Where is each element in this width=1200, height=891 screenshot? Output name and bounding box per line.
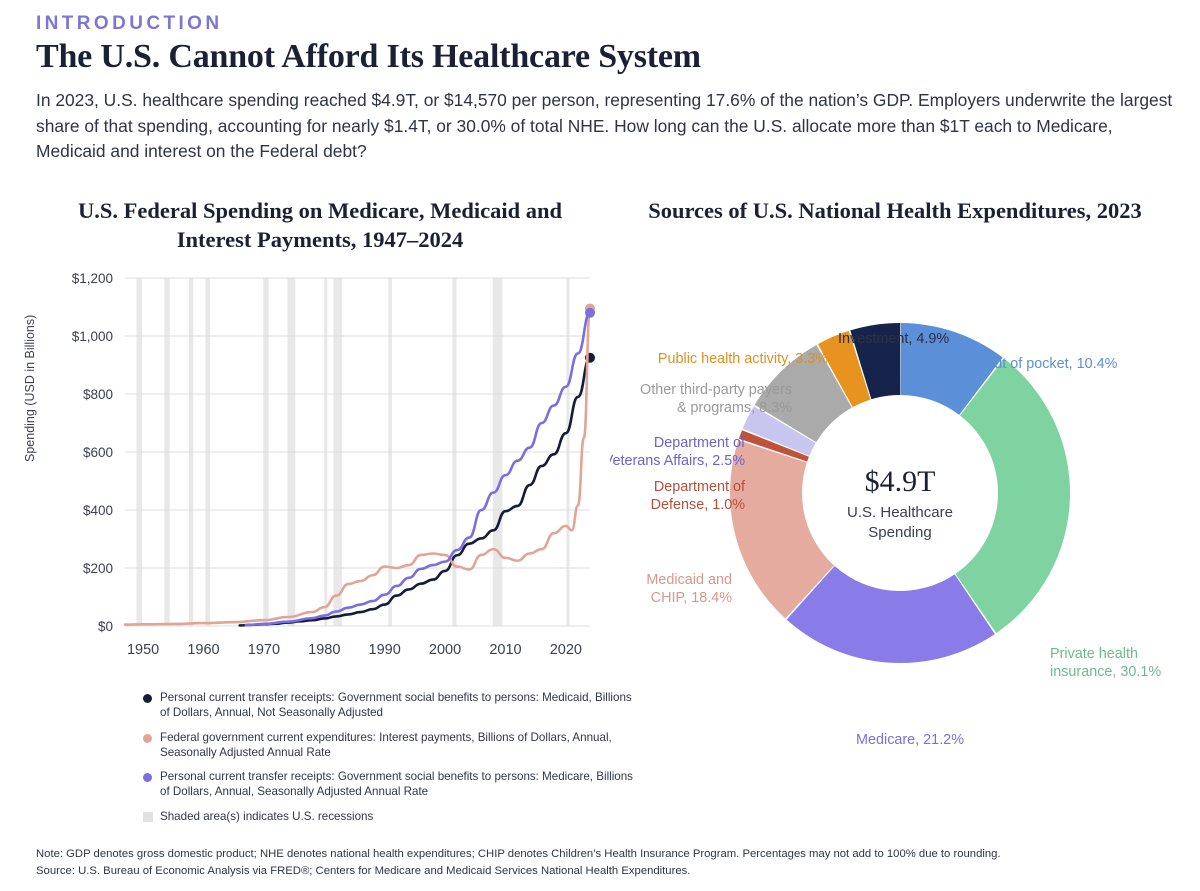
donut-chart-svg: $4.9TU.S. HealthcareSpendingInvestment, … <box>610 248 1180 808</box>
donut-slice-label: Investment, 4.9% <box>838 331 949 347</box>
legend-label-medicaid: Personal current transfer receipts: Gove… <box>160 690 643 721</box>
x-tick-label: 2010 <box>489 642 521 658</box>
donut-chart-title: Sources of U.S. National Health Expendit… <box>610 196 1180 225</box>
x-tick-label: 1950 <box>127 642 159 658</box>
series-line-interest-payments <box>125 308 590 624</box>
donut-slice-label: Out of pocket, 10.4% <box>983 356 1118 372</box>
x-tick-label: 1960 <box>187 642 219 658</box>
x-tick-label: 2000 <box>429 642 461 658</box>
legend-dot-medicare <box>143 773 152 782</box>
page-title: The U.S. Cannot Afford Its Healthcare Sy… <box>36 38 701 76</box>
y-tick-label: $0 <box>98 619 113 634</box>
y-tick-label: $800 <box>83 387 113 402</box>
donut-slice-label: Medicare, 21.2% <box>856 732 964 748</box>
legend-label-interest: Federal government current expenditures:… <box>160 730 643 761</box>
y-tick-label: $600 <box>83 445 113 460</box>
donut-chart-plot: $4.9TU.S. HealthcareSpendingInvestment, … <box>610 248 1180 808</box>
legend-dot-medicaid <box>143 694 152 703</box>
y-tick-label: $400 <box>83 503 113 518</box>
line-chart-plot: Spending (USD in Billions) $0$200$400$60… <box>30 266 610 666</box>
line-chart-svg: $0$200$400$600$800$1,000$1,2001950196019… <box>30 266 610 666</box>
legend-label-medicare: Personal current transfer receipts: Gove… <box>160 769 643 800</box>
x-tick-label: 1970 <box>248 642 280 658</box>
x-tick-label: 1990 <box>369 642 401 658</box>
donut-center-line2: Spending <box>868 524 931 541</box>
donut-slice-label: Department ofVeterans Affairs, 2.5% <box>610 435 746 469</box>
donut-slice-label: Private healthinsurance, 30.1% <box>1050 646 1161 680</box>
donut-slice <box>955 359 1070 634</box>
intro-paragraph: In 2023, U.S. healthcare spending reache… <box>36 88 1176 165</box>
legend-item: Federal government current expenditures:… <box>143 730 643 761</box>
footnote: Note: GDP denotes gross domestic product… <box>36 846 1176 879</box>
legend-item-recession: Shaded area(s) indicates U.S. recessions <box>143 809 643 824</box>
line-chart-panel: U.S. Federal Spending on Medicare, Medic… <box>30 196 610 836</box>
donut-slice-label: Medicaid andCHIP, 18.4% <box>646 572 732 606</box>
line-chart-title: U.S. Federal Spending on Medicare, Medic… <box>40 196 600 254</box>
y-tick-label: $1,000 <box>72 329 113 344</box>
legend-item: Personal current transfer receipts: Gove… <box>143 769 643 800</box>
legend-label-recession: Shaded area(s) indicates U.S. recessions <box>160 809 373 824</box>
x-tick-label: 2020 <box>550 642 582 658</box>
donut-chart-panel: Sources of U.S. National Health Expendit… <box>610 196 1180 836</box>
y-tick-label: $200 <box>83 561 113 576</box>
x-tick-label: 1980 <box>308 642 340 658</box>
page-root: INTRODUCTION The U.S. Cannot Afford Its … <box>0 0 1200 891</box>
series-endpoint <box>585 308 595 318</box>
donut-center-value: $4.9T <box>865 465 936 498</box>
section-eyebrow: INTRODUCTION <box>36 13 222 35</box>
donut-slice-label: Public health activity, 3.3% <box>658 351 828 367</box>
legend-swatch-recession <box>143 812 153 822</box>
donut-center-line1: U.S. Healthcare <box>847 504 953 521</box>
footnote-note: Note: GDP denotes gross domestic product… <box>36 846 1176 863</box>
line-chart-legend: Personal current transfer receipts: Gove… <box>143 690 643 833</box>
footnote-source: Source: U.S. Bureau of Economic Analysis… <box>36 863 1176 880</box>
legend-item: Personal current transfer receipts: Gove… <box>143 690 643 721</box>
legend-dot-interest <box>143 734 152 743</box>
y-tick-label: $1,200 <box>72 271 113 286</box>
